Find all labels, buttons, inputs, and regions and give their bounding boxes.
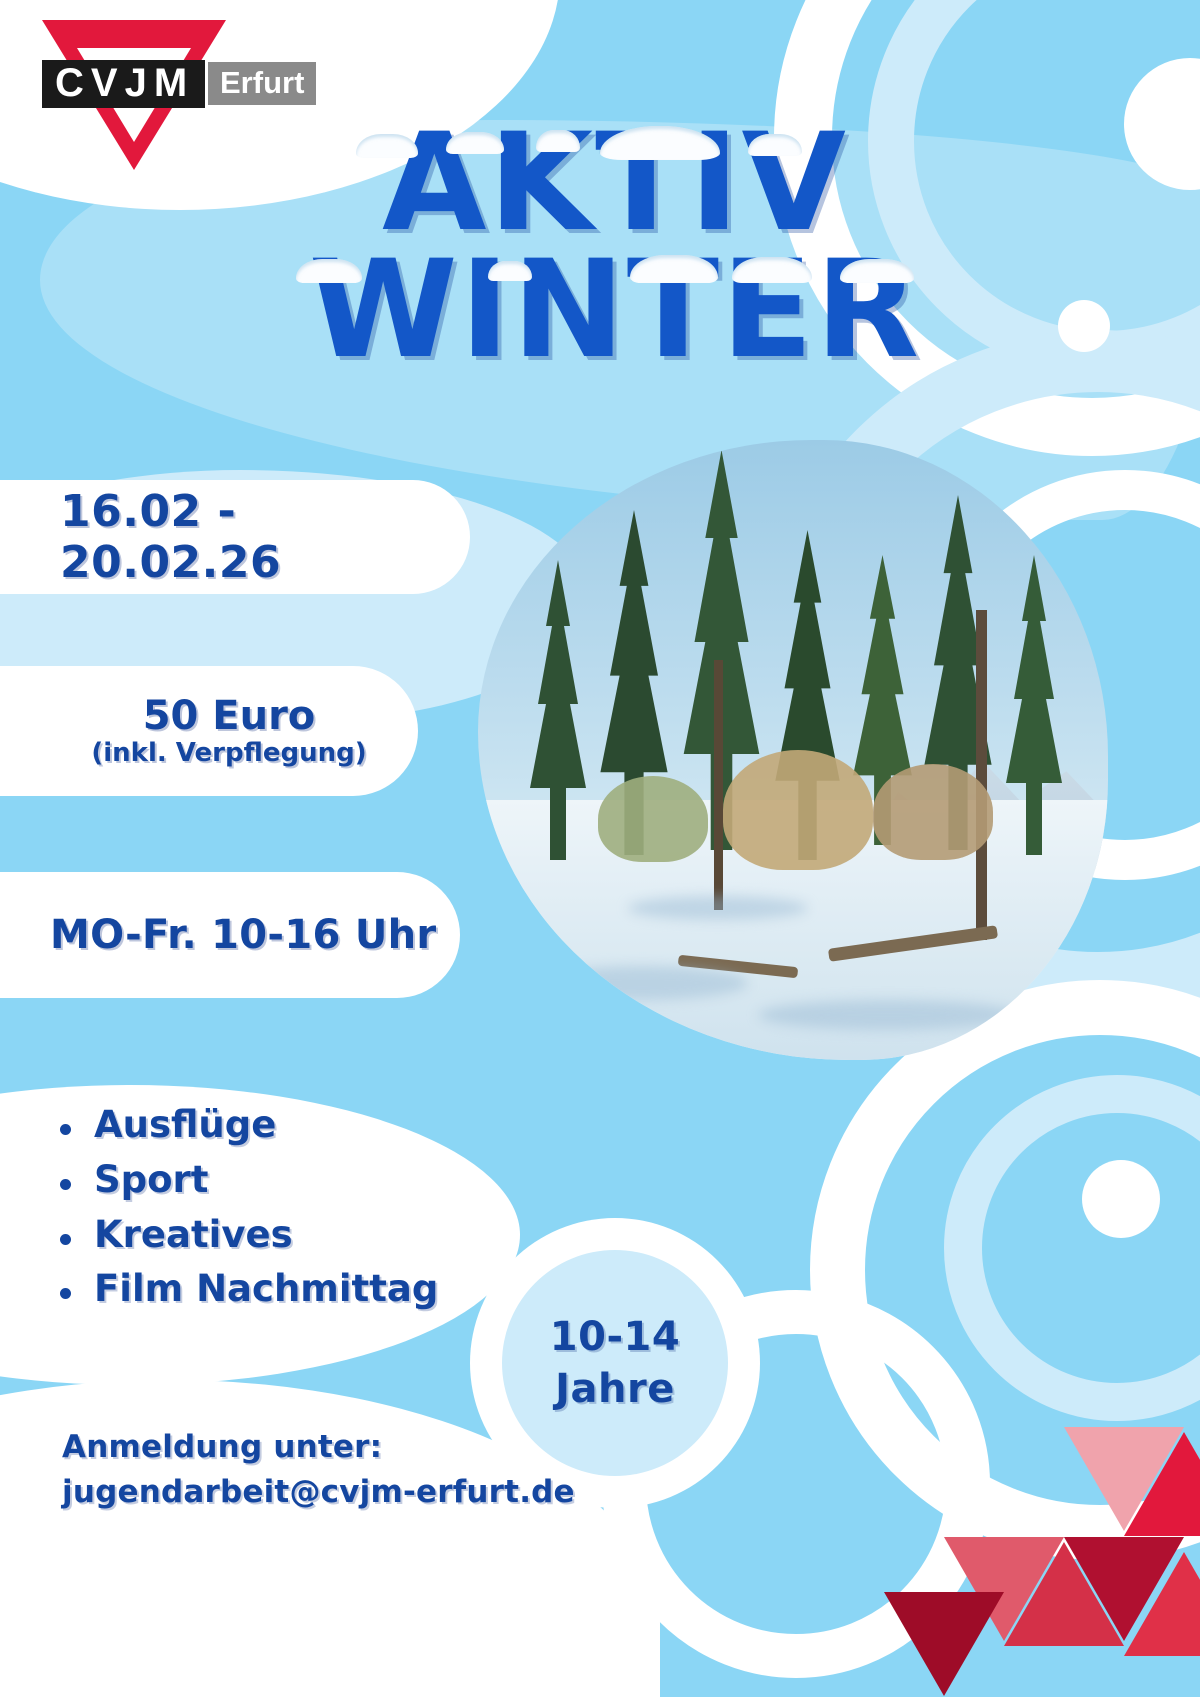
triangle-decoration — [934, 1427, 1194, 1697]
decor-dot-3 — [1082, 1160, 1160, 1238]
decor-dot-1 — [1124, 58, 1200, 190]
age-range: 10-14 — [550, 1314, 680, 1360]
registration-email[interactable]: jugendarbeit@cvjm-erfurt.de — [62, 1470, 702, 1515]
list-item: Kreatives — [52, 1208, 552, 1263]
photo-tree-trunk — [714, 660, 723, 910]
time-text: MO-Fr. 10-16 Uhr — [50, 912, 460, 958]
date-panel: 16.02 - 20.02.26 — [0, 480, 470, 594]
photo-bush — [873, 764, 993, 860]
page-title: AKTIV WINTER — [300, 120, 930, 374]
triangle-icon — [884, 1592, 1004, 1696]
price-note: (inkl. Verpflegung) — [40, 739, 418, 768]
date-text: 16.02 - 20.02.26 — [60, 486, 470, 588]
logo-city-name: Erfurt — [208, 62, 316, 105]
list-item: Sport — [52, 1153, 552, 1208]
list-item: Film Nachmittag — [52, 1262, 552, 1317]
activities-list: Ausflüge Sport Kreatives Film Nachmittag — [52, 1098, 552, 1317]
cvjm-logo[interactable]: CVJM Erfurt — [20, 14, 320, 144]
price-panel: 50 Euro (inkl. Verpflegung) — [0, 666, 418, 796]
time-panel: MO-Fr. 10-16 Uhr — [0, 872, 460, 998]
photo-bush — [723, 750, 873, 870]
decor-ring-6 — [944, 1075, 1200, 1421]
list-item: Ausflüge — [52, 1098, 552, 1153]
triangle-icon — [1124, 1432, 1200, 1536]
age-unit: Jahre — [555, 1366, 675, 1412]
photo-bush — [598, 776, 708, 862]
registration-block: Anmeldung unter: jugendarbeit@cvjm-erfur… — [62, 1425, 702, 1515]
photo-snow-shadow — [628, 896, 808, 920]
registration-label: Anmeldung unter: — [62, 1425, 702, 1470]
triangle-icon — [1124, 1552, 1200, 1656]
photo-snow-shadow — [758, 1000, 1018, 1030]
logo-brand-name: CVJM — [42, 60, 205, 108]
photo-snow-shadow — [538, 966, 748, 1000]
headline-line-1: AKTIV — [300, 120, 930, 247]
decor-dot-2 — [1058, 300, 1110, 352]
winter-forest-photo — [478, 440, 1108, 1060]
price-amount: 50 Euro — [40, 695, 418, 737]
poster-canvas: 16.02 - 20.02.26 50 Euro (inkl. Verpfleg… — [0, 0, 1200, 1697]
triangle-icon — [1004, 1542, 1124, 1646]
headline-line-2: WINTER — [300, 247, 930, 374]
photo-tree-trunk — [976, 610, 987, 940]
